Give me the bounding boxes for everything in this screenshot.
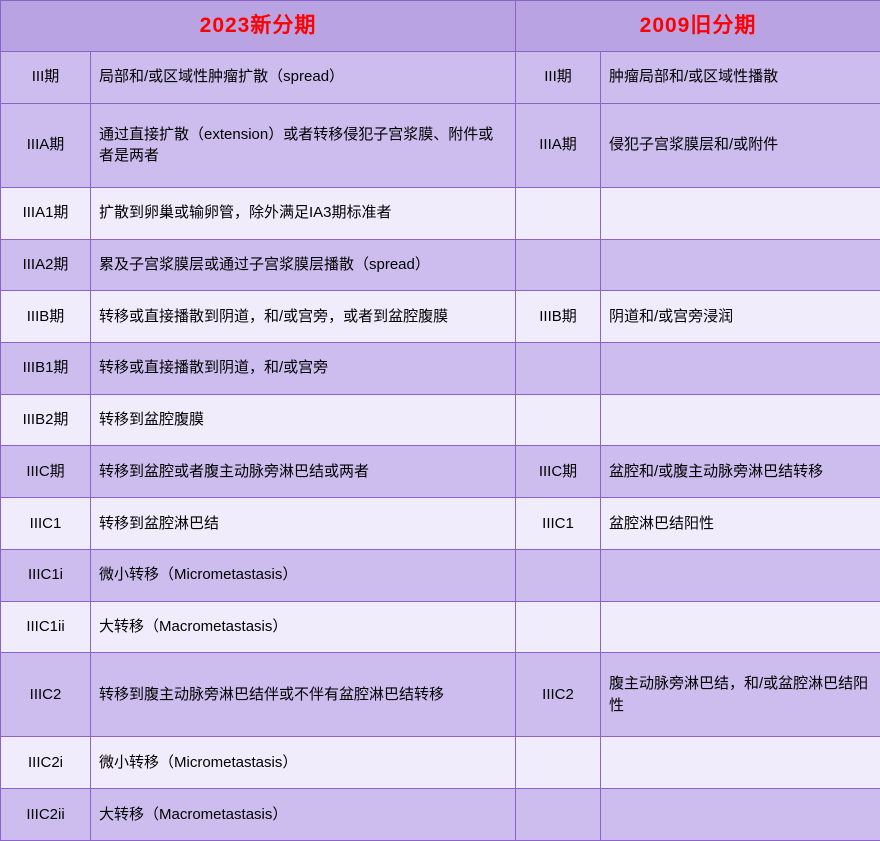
new-stage-label: IIIA期	[1, 103, 91, 187]
old-stage-description	[601, 601, 880, 653]
old-stage-description	[601, 394, 880, 446]
new-stage-label: IIIA2期	[1, 239, 91, 291]
table-row: III期局部和/或区域性肿瘤扩散（spread）III期肿瘤局部和/或区域性播散	[1, 52, 880, 104]
old-stage-description: 盆腔和/或腹主动脉旁淋巴结转移	[601, 446, 880, 498]
old-stage-description	[601, 737, 880, 789]
table-body: III期局部和/或区域性肿瘤扩散（spread）III期肿瘤局部和/或区域性播散…	[1, 52, 880, 841]
old-stage-label	[516, 239, 601, 291]
new-stage-label: IIIC1i	[1, 549, 91, 601]
table-row: IIIB期转移或直接播散到阴道，和/或宫旁，或者到盆腔腹膜IIIB期阴道和/或宫…	[1, 291, 880, 343]
old-stage-description: 腹主动脉旁淋巴结，和/或盆腔淋巴结阳性	[601, 653, 880, 737]
old-stage-description	[601, 789, 880, 841]
table-header-row: 2023新分期 2009旧分期	[1, 1, 880, 52]
new-stage-description: 局部和/或区域性肿瘤扩散（spread）	[91, 52, 516, 104]
new-stage-label: IIIC2ii	[1, 789, 91, 841]
table-row: IIIA2期累及子宫浆膜层或通过子宫浆膜层播散（spread）	[1, 239, 880, 291]
old-stage-description: 阴道和/或宫旁浸润	[601, 291, 880, 343]
old-stage-description	[601, 342, 880, 394]
old-stage-label: IIIA期	[516, 103, 601, 187]
table-row: IIIC期转移到盆腔或者腹主动脉旁淋巴结或两者IIIC期盆腔和/或腹主动脉旁淋巴…	[1, 446, 880, 498]
old-stage-label: IIIC2	[516, 653, 601, 737]
old-stage-label	[516, 789, 601, 841]
new-stage-label: IIIC期	[1, 446, 91, 498]
new-stage-description: 转移或直接播散到阴道，和/或宫旁	[91, 342, 516, 394]
new-stage-description: 转移到盆腔或者腹主动脉旁淋巴结或两者	[91, 446, 516, 498]
table-row: IIIB1期转移或直接播散到阴道，和/或宫旁	[1, 342, 880, 394]
new-stage-label: IIIB期	[1, 291, 91, 343]
new-stage-description: 微小转移（Micrometastasis）	[91, 549, 516, 601]
old-stage-label: IIIC期	[516, 446, 601, 498]
table-row: IIIC1i微小转移（Micrometastasis）	[1, 549, 880, 601]
old-stage-description	[601, 549, 880, 601]
old-stage-label	[516, 601, 601, 653]
new-stage-label: IIIB2期	[1, 394, 91, 446]
table-row: IIIB2期转移到盆腔腹膜	[1, 394, 880, 446]
old-stage-description: 肿瘤局部和/或区域性播散	[601, 52, 880, 104]
table-row: IIIC1转移到盆腔淋巴结IIIC1盆腔淋巴结阳性	[1, 498, 880, 550]
old-stage-label	[516, 342, 601, 394]
old-stage-label	[516, 187, 601, 239]
new-stage-description: 大转移（Macrometastasis）	[91, 601, 516, 653]
new-stage-description: 转移到腹主动脉旁淋巴结伴或不伴有盆腔淋巴结转移	[91, 653, 516, 737]
header-new-staging: 2023新分期	[1, 1, 516, 52]
new-stage-label: III期	[1, 52, 91, 104]
table-row: IIIA期通过直接扩散（extension）或者转移侵犯子宫浆膜、附件或者是两者…	[1, 103, 880, 187]
old-stage-description: 侵犯子宫浆膜层和/或附件	[601, 103, 880, 187]
old-stage-label: IIIC1	[516, 498, 601, 550]
new-stage-description: 大转移（Macrometastasis）	[91, 789, 516, 841]
new-stage-label: IIIC1ii	[1, 601, 91, 653]
table-row: IIIC2i微小转移（Micrometastasis）	[1, 737, 880, 789]
old-stage-label	[516, 737, 601, 789]
new-stage-description: 转移到盆腔腹膜	[91, 394, 516, 446]
new-stage-label: IIIC2i	[1, 737, 91, 789]
new-stage-description: 累及子宫浆膜层或通过子宫浆膜层播散（spread）	[91, 239, 516, 291]
old-stage-label: IIIB期	[516, 291, 601, 343]
old-stage-description	[601, 239, 880, 291]
old-stage-description	[601, 187, 880, 239]
header-old-staging: 2009旧分期	[516, 1, 880, 52]
new-stage-label: IIIC2	[1, 653, 91, 737]
new-stage-description: 转移或直接播散到阴道，和/或宫旁，或者到盆腔腹膜	[91, 291, 516, 343]
old-stage-description: 盆腔淋巴结阳性	[601, 498, 880, 550]
old-stage-label: III期	[516, 52, 601, 104]
new-stage-description: 扩散到卵巢或输卵管，除外满足IA3期标准者	[91, 187, 516, 239]
new-stage-description: 通过直接扩散（extension）或者转移侵犯子宫浆膜、附件或者是两者	[91, 103, 516, 187]
table-row: IIIC2转移到腹主动脉旁淋巴结伴或不伴有盆腔淋巴结转移IIIC2腹主动脉旁淋巴…	[1, 653, 880, 737]
table-row: IIIC2ii大转移（Macrometastasis）	[1, 789, 880, 841]
new-stage-label: IIIC1	[1, 498, 91, 550]
table-row: IIIA1期扩散到卵巢或输卵管，除外满足IA3期标准者	[1, 187, 880, 239]
new-stage-label: IIIA1期	[1, 187, 91, 239]
table-row: IIIC1ii大转移（Macrometastasis）	[1, 601, 880, 653]
old-stage-label	[516, 549, 601, 601]
new-stage-description: 微小转移（Micrometastasis）	[91, 737, 516, 789]
new-stage-label: IIIB1期	[1, 342, 91, 394]
staging-comparison-table: 2023新分期 2009旧分期 III期局部和/或区域性肿瘤扩散（spread）…	[0, 0, 880, 841]
old-stage-label	[516, 394, 601, 446]
new-stage-description: 转移到盆腔淋巴结	[91, 498, 516, 550]
